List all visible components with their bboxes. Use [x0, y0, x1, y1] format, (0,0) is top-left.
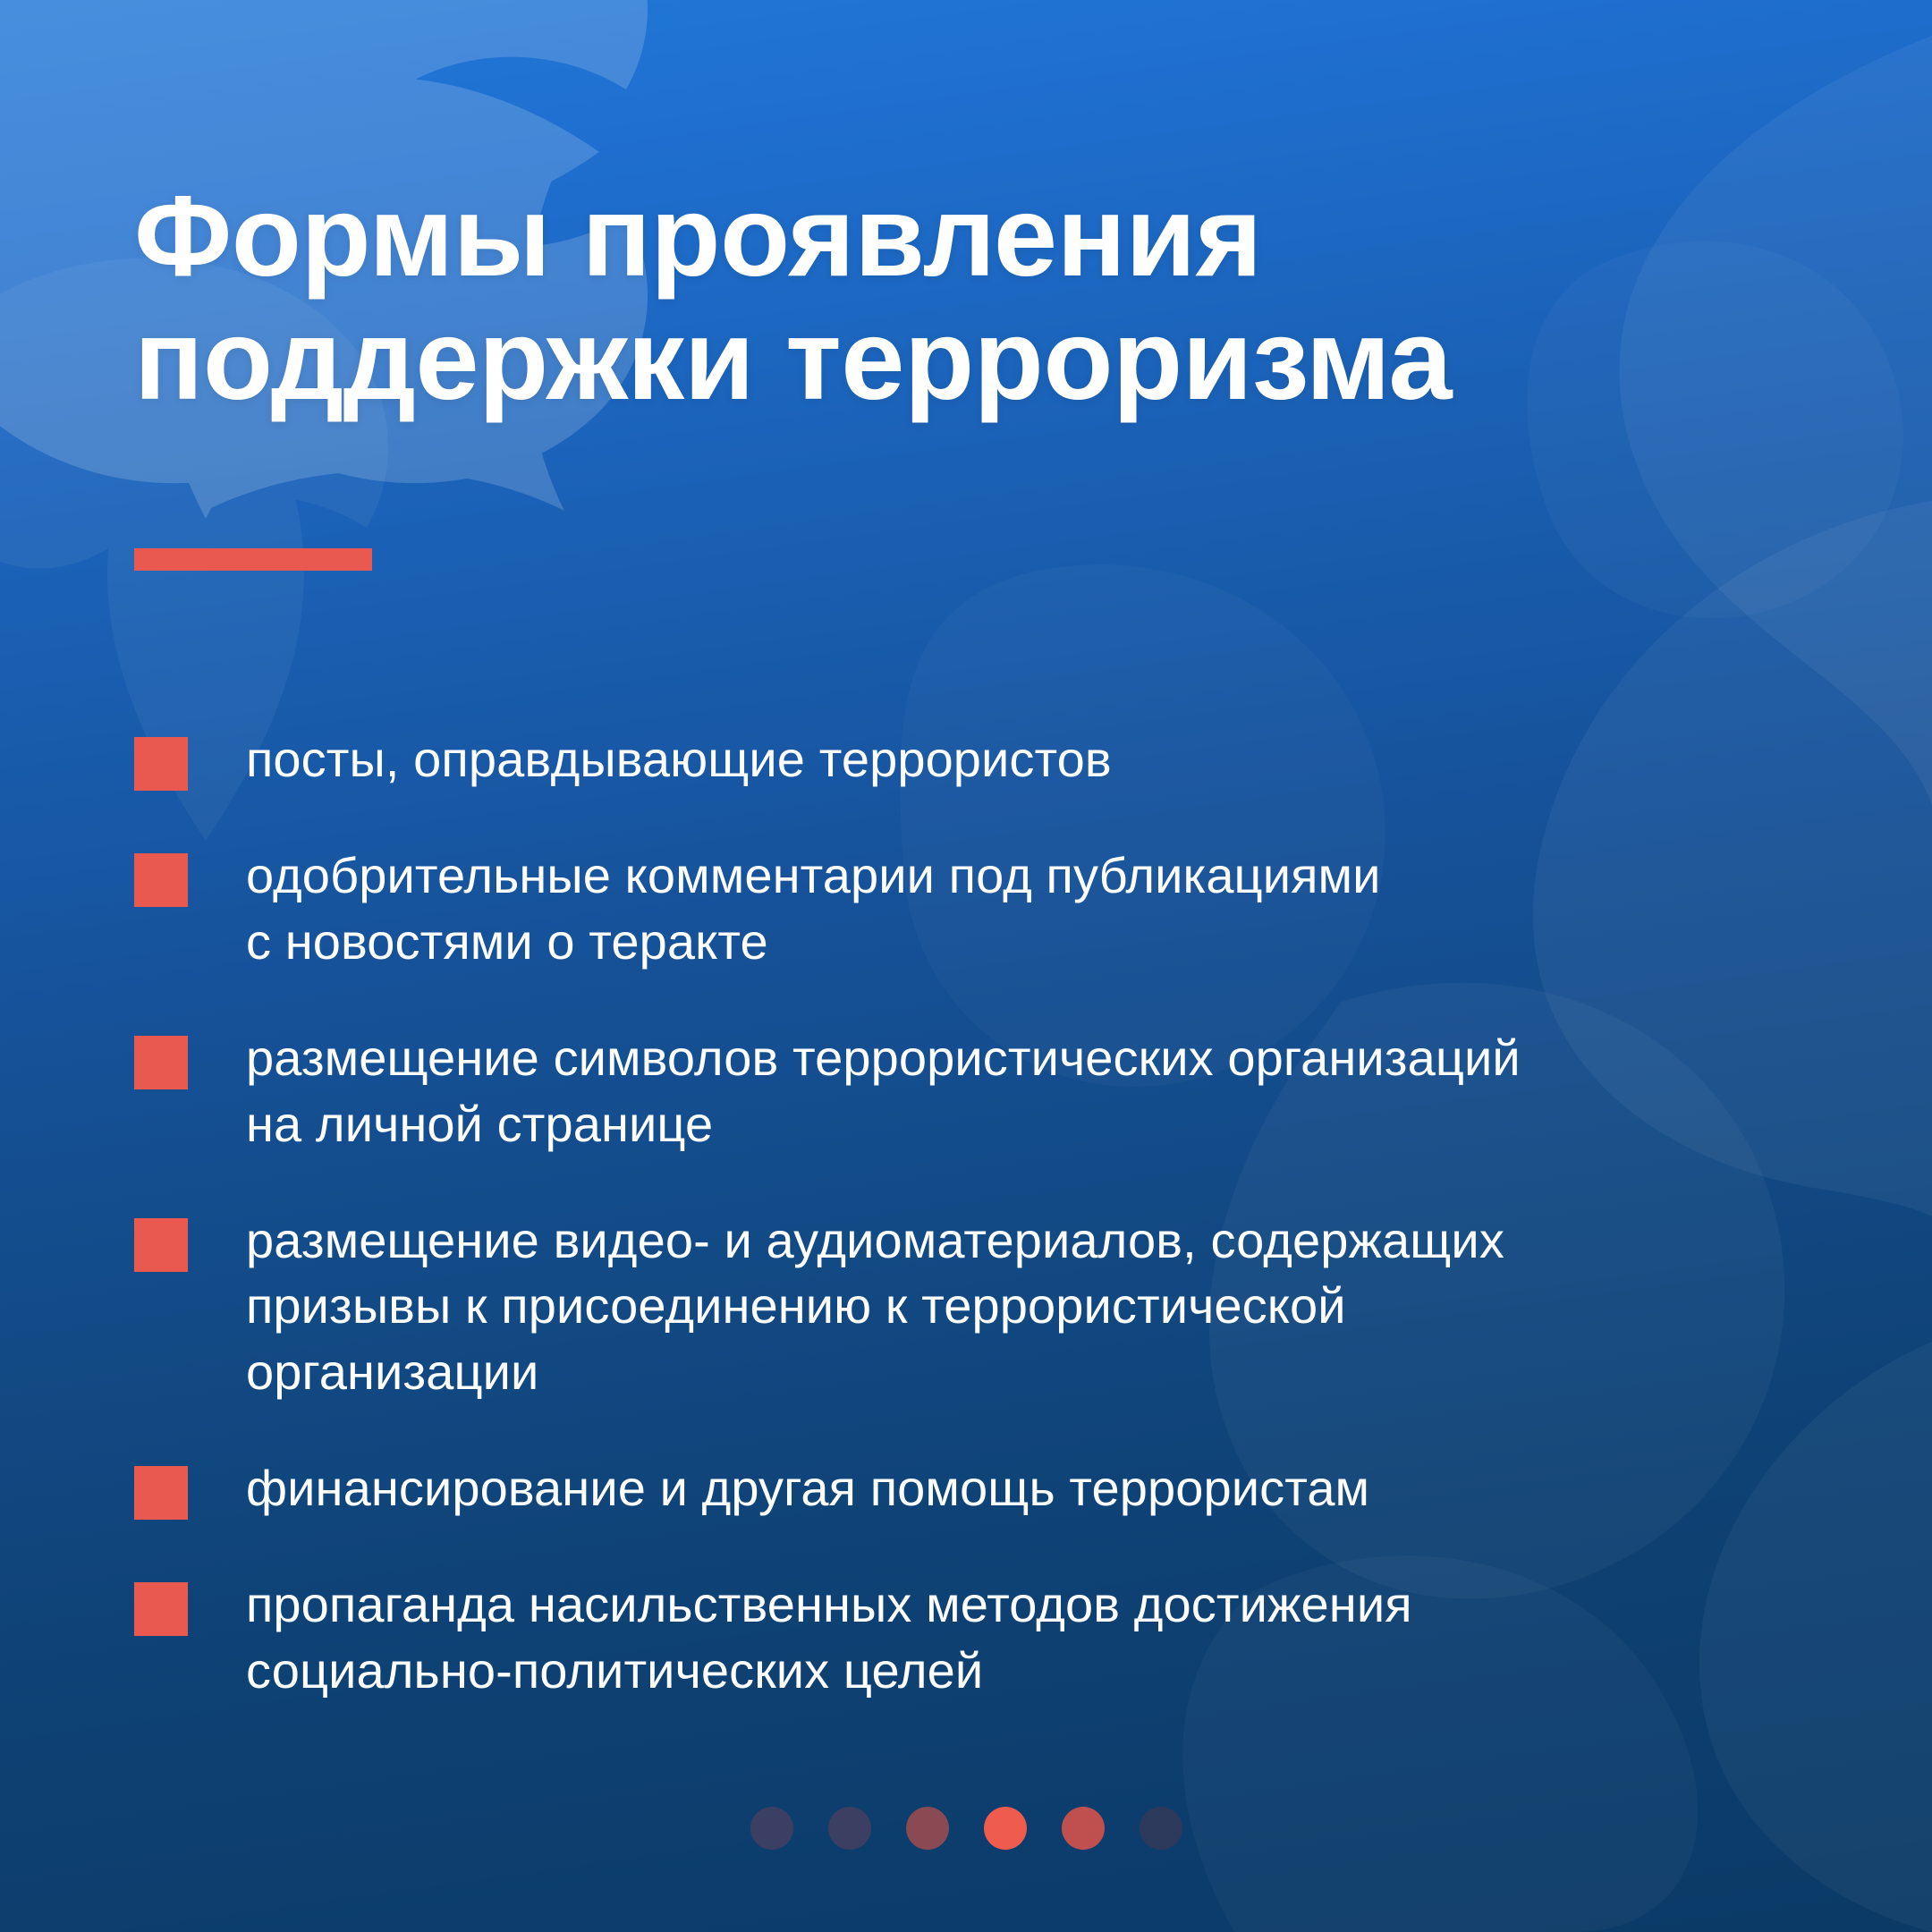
- list-item: одобрительные комментарии под публикация…: [134, 843, 1834, 975]
- list-item-label: одобрительные комментарии под публикация…: [246, 843, 1381, 975]
- pagination-dot-1[interactable]: [750, 1807, 793, 1850]
- header: Формы проявления поддержки терроризма: [134, 175, 1816, 422]
- list-item: размещение видео- и аудиоматериалов, сод…: [134, 1207, 1834, 1406]
- bullet-square-icon: [134, 853, 188, 907]
- list-item-label: посты, оправдывающие террористов: [246, 726, 1112, 792]
- pagination-dot-6[interactable]: [1140, 1807, 1182, 1850]
- list-item: размещение символов террористических орг…: [134, 1025, 1834, 1157]
- accent-bar: [134, 548, 372, 571]
- list-item-label: пропаганда насильственных методов достиж…: [246, 1572, 1412, 1704]
- bullet-square-icon: [134, 737, 188, 791]
- pagination-dots[interactable]: [0, 1807, 1932, 1850]
- list-item: посты, оправдывающие террористов: [134, 726, 1834, 792]
- bullet-square-icon: [134, 1582, 188, 1636]
- pagination-dot-5[interactable]: [1062, 1807, 1105, 1850]
- page-title: Формы проявления поддержки терроризма: [134, 175, 1816, 422]
- list-item: пропаганда насильственных методов достиж…: [134, 1572, 1834, 1704]
- list-item-label: размещение символов террористических орг…: [246, 1025, 1521, 1157]
- list-item-label: финансирование и другая помощь террорист…: [246, 1455, 1369, 1521]
- pagination-dot-3[interactable]: [906, 1807, 949, 1850]
- list-item-label: размещение видео- и аудиоматериалов, сод…: [246, 1207, 1504, 1406]
- list-item: финансирование и другая помощь террорист…: [134, 1455, 1834, 1521]
- pagination-dot-4[interactable]: [984, 1807, 1027, 1850]
- bullet-list: посты, оправдывающие террористов одобрит…: [134, 726, 1834, 1754]
- pagination-dot-2[interactable]: [828, 1807, 871, 1850]
- bullet-square-icon: [134, 1218, 188, 1272]
- bullet-square-icon: [134, 1466, 188, 1520]
- slide-root: Формы проявления поддержки терроризма по…: [0, 0, 1932, 1932]
- bullet-square-icon: [134, 1036, 188, 1089]
